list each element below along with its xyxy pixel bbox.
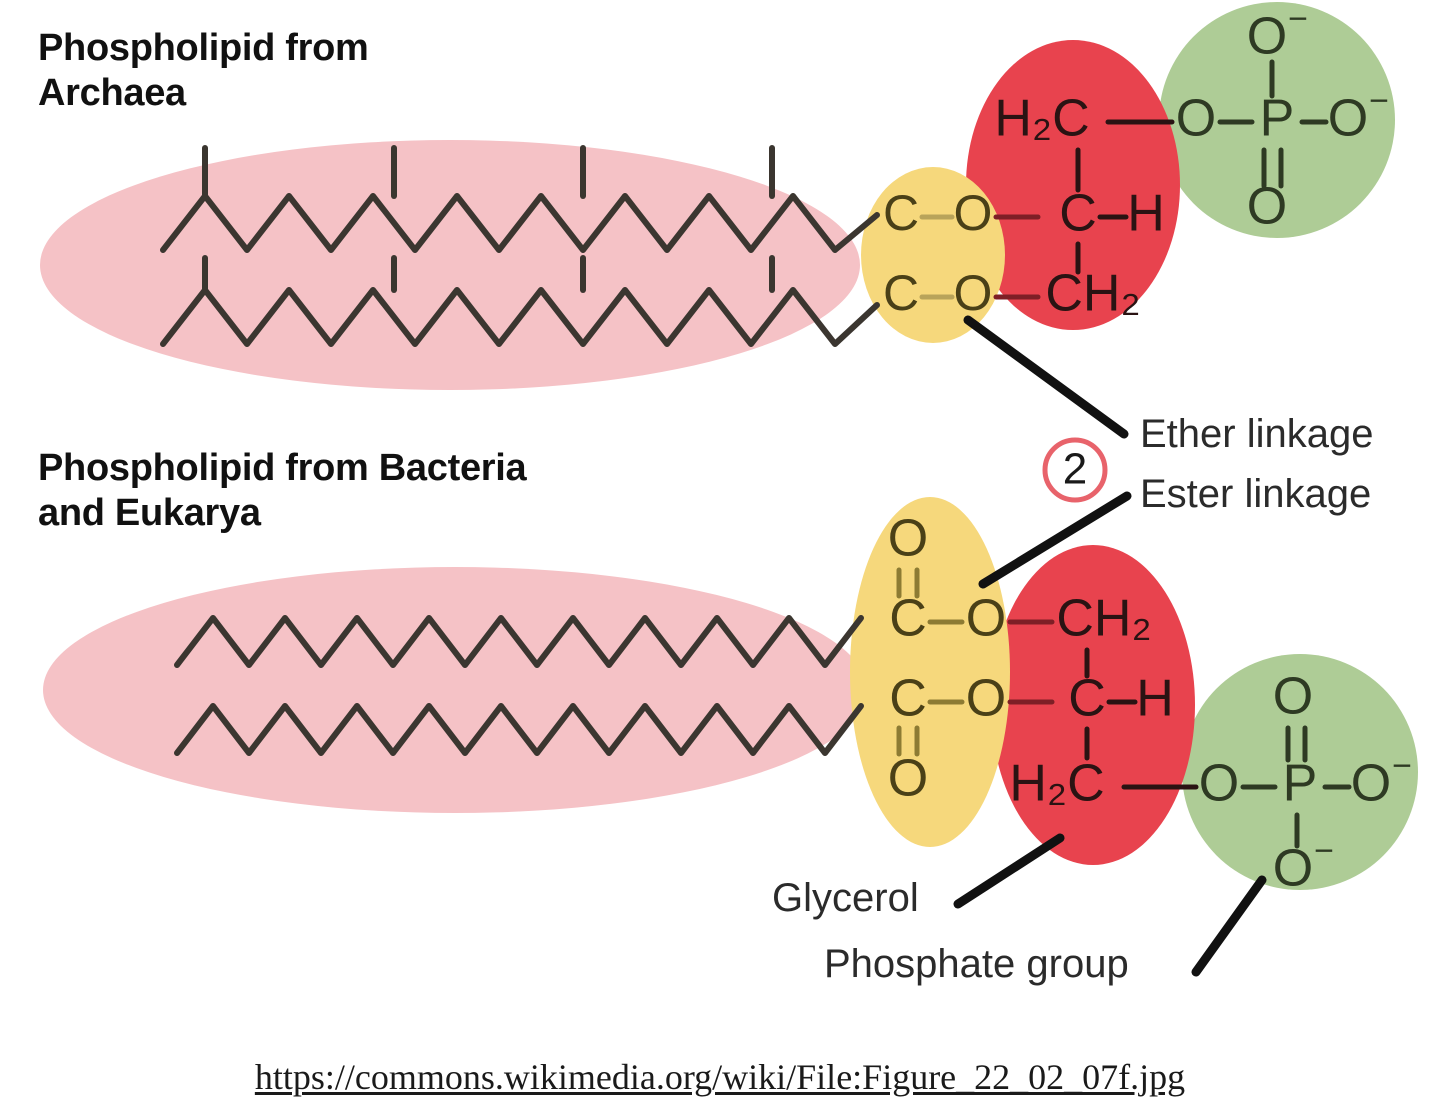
leader-line-ether (968, 320, 1124, 434)
label-phosphate-group: Phosphate group (824, 942, 1129, 987)
atom-O-ester-upper: O (966, 590, 1006, 648)
atom-C-upper: C (883, 185, 919, 241)
atom-C-lower: C (889, 670, 927, 728)
atom-O-ester-lower: O (966, 670, 1006, 728)
charge-top: − (1288, 0, 1308, 38)
atom-CH2-bottom: CH₂ (1045, 265, 1140, 323)
atom-P-center: P (1283, 755, 1318, 813)
tail-region-archaea (40, 140, 860, 390)
atom-O-bottom-anion: O (1273, 840, 1313, 898)
atom-H2C-top: H₂C (994, 90, 1089, 148)
atom-C-upper: C (889, 590, 927, 648)
atom-O-left: O (1199, 755, 1239, 813)
label-glycerol: Glycerol (772, 876, 919, 921)
diagram-canvas: Phospholipid from Archaea Phospholipid f… (0, 0, 1440, 1120)
atom-CH2-top: CH₂ (1056, 590, 1151, 648)
atom-O-left: O (1176, 90, 1216, 148)
atom-O-carbonyl-upper: O (888, 510, 928, 568)
atom-H-middle: H (1127, 185, 1165, 243)
source-url-link[interactable]: https://commons.wikimedia.org/wiki/File:… (0, 1056, 1440, 1098)
charge-right: − (1392, 747, 1412, 785)
atom-O-top-anion: O (1247, 8, 1287, 66)
leader-line-glycerol (958, 838, 1060, 904)
atom-O-top: O (1273, 668, 1313, 726)
atom-O-right-anion: O (1328, 90, 1368, 148)
charge-right: − (1369, 82, 1389, 120)
atom-C-middle: C (1059, 185, 1097, 243)
atom-H2C-bottom: H₂C (1009, 755, 1104, 813)
atom-O-lower: O (954, 265, 993, 321)
label-ester-linkage: Ester linkage (1140, 472, 1371, 517)
atom-H-middle: H (1136, 670, 1174, 728)
atom-O-upper: O (954, 185, 993, 241)
phospholipid-structures: C O C O H₂C C H CH₂ O (0, 0, 1440, 1120)
label-ether-linkage: Ether linkage (1140, 412, 1373, 457)
step-marker-label: 2 (1063, 445, 1087, 494)
charge-bottom: − (1314, 832, 1334, 870)
leader-line-phosphate (1196, 880, 1262, 972)
atom-P-center: P (1260, 90, 1295, 148)
atom-O-right-anion: O (1351, 755, 1391, 813)
atom-C-lower: C (883, 265, 919, 321)
atom-O-carbonyl-lower: O (888, 750, 928, 808)
tail-region-bacteria (43, 567, 867, 813)
